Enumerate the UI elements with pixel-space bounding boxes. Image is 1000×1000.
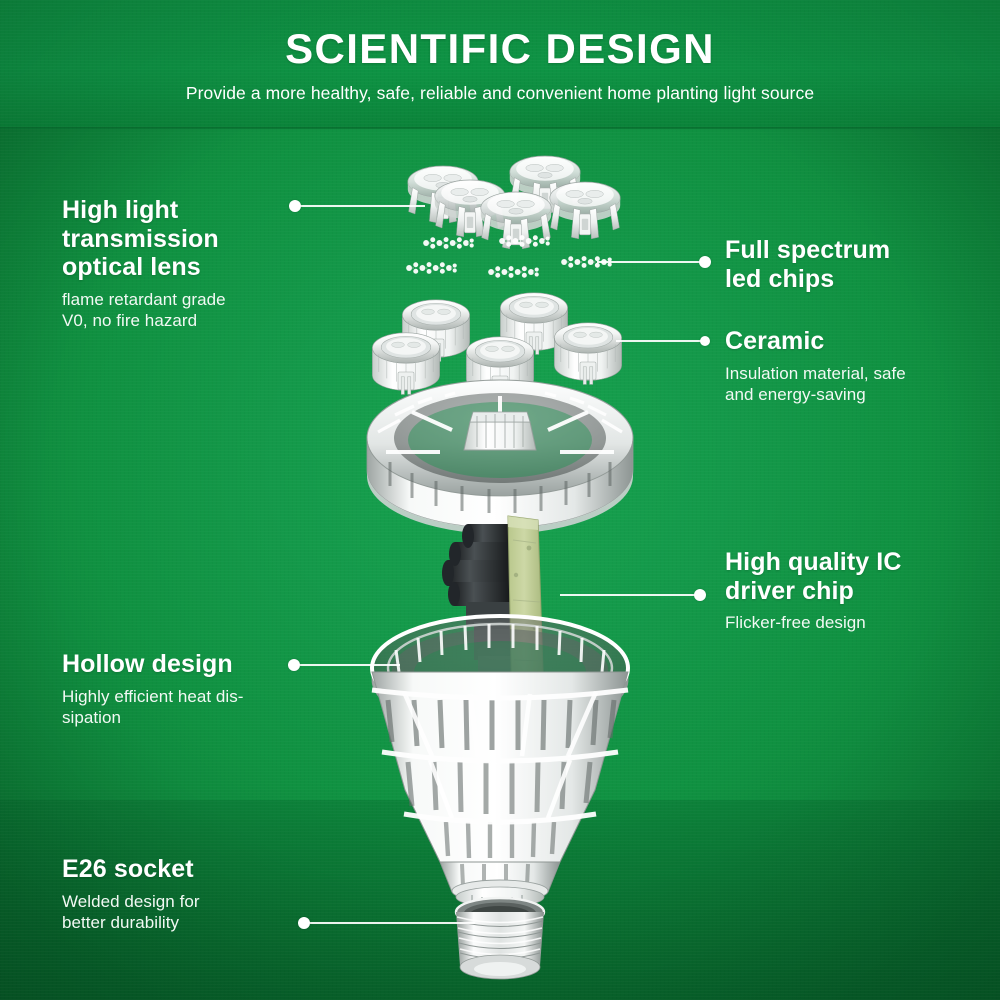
title-line: High light [62,196,312,225]
leader-ic-driver [560,594,700,596]
callout-hollow-design-title: Hollow design [62,650,322,679]
title-line: Ceramic [725,327,980,356]
callout-ic-driver-desc: Flicker-free design [725,612,980,634]
desc-line: sipation [62,707,322,729]
callout-ic-driver: High quality IC driver chip Flicker-free… [725,548,980,634]
title-line: led chips [725,265,975,294]
callout-ceramic-desc: Insulation material, safe and energy-sav… [725,363,980,406]
callout-ceramic-title: Ceramic [725,327,980,356]
title-line: optical lens [62,253,312,282]
desc-line: Highly efficient heat dis- [62,686,322,708]
leader-led-chips [597,261,703,263]
callout-optical-lens-title: High light transmission optical lens [62,196,312,282]
desc-line: Welded design for [62,891,322,913]
dot-ic-driver [694,589,706,601]
callout-e26-socket: E26 socket Welded design for better dura… [62,855,322,934]
title-line: Hollow design [62,650,322,679]
infographic-canvas: SCIENTIFIC DESIGN Provide a more healthy… [0,0,1000,1000]
leader-e26-socket [310,922,475,924]
desc-line: V0, no fire hazard [62,310,312,332]
leader-ceramic [616,340,705,342]
hollow-heatsink-body [372,616,628,907]
reflector-ring-housing [367,380,633,534]
callout-optical-lens-desc: flame retardant grade V0, no fire hazard [62,289,312,332]
leader-optical-lens [301,205,425,207]
desc-line: Insulation material, safe [725,363,980,385]
desc-line: better durability [62,912,322,934]
title-line: driver chip [725,577,980,606]
callout-ceramic: Ceramic Insulation material, safe and en… [725,327,980,406]
callout-optical-lens: High light transmission optical lens fla… [62,196,312,332]
desc-line: and energy-saving [725,384,980,406]
callout-hollow-design-desc: Highly efficient heat dis- sipation [62,686,322,729]
callout-e26-socket-desc: Welded design for better durability [62,891,322,934]
callout-ic-driver-title: High quality IC driver chip [725,548,980,605]
desc-line: Flicker-free design [725,612,980,634]
e26-screw-base [456,898,544,979]
optical-lens-caps [408,156,620,249]
callout-led-chips: Full spectrum led chips [725,236,975,293]
title-line: Full spectrum [725,236,975,265]
title-line: E26 socket [62,855,322,884]
desc-line: flame retardant grade [62,289,312,311]
center-chip-block [464,412,536,450]
callout-led-chips-title: Full spectrum led chips [725,236,975,293]
dot-led-chips [699,256,711,268]
title-line: transmission [62,225,312,254]
callout-hollow-design: Hollow design Highly efficient heat dis-… [62,650,322,729]
title-line: High quality IC [725,548,980,577]
dot-ceramic [700,336,710,346]
callout-e26-socket-title: E26 socket [62,855,322,884]
product-illustration [0,0,1000,1000]
